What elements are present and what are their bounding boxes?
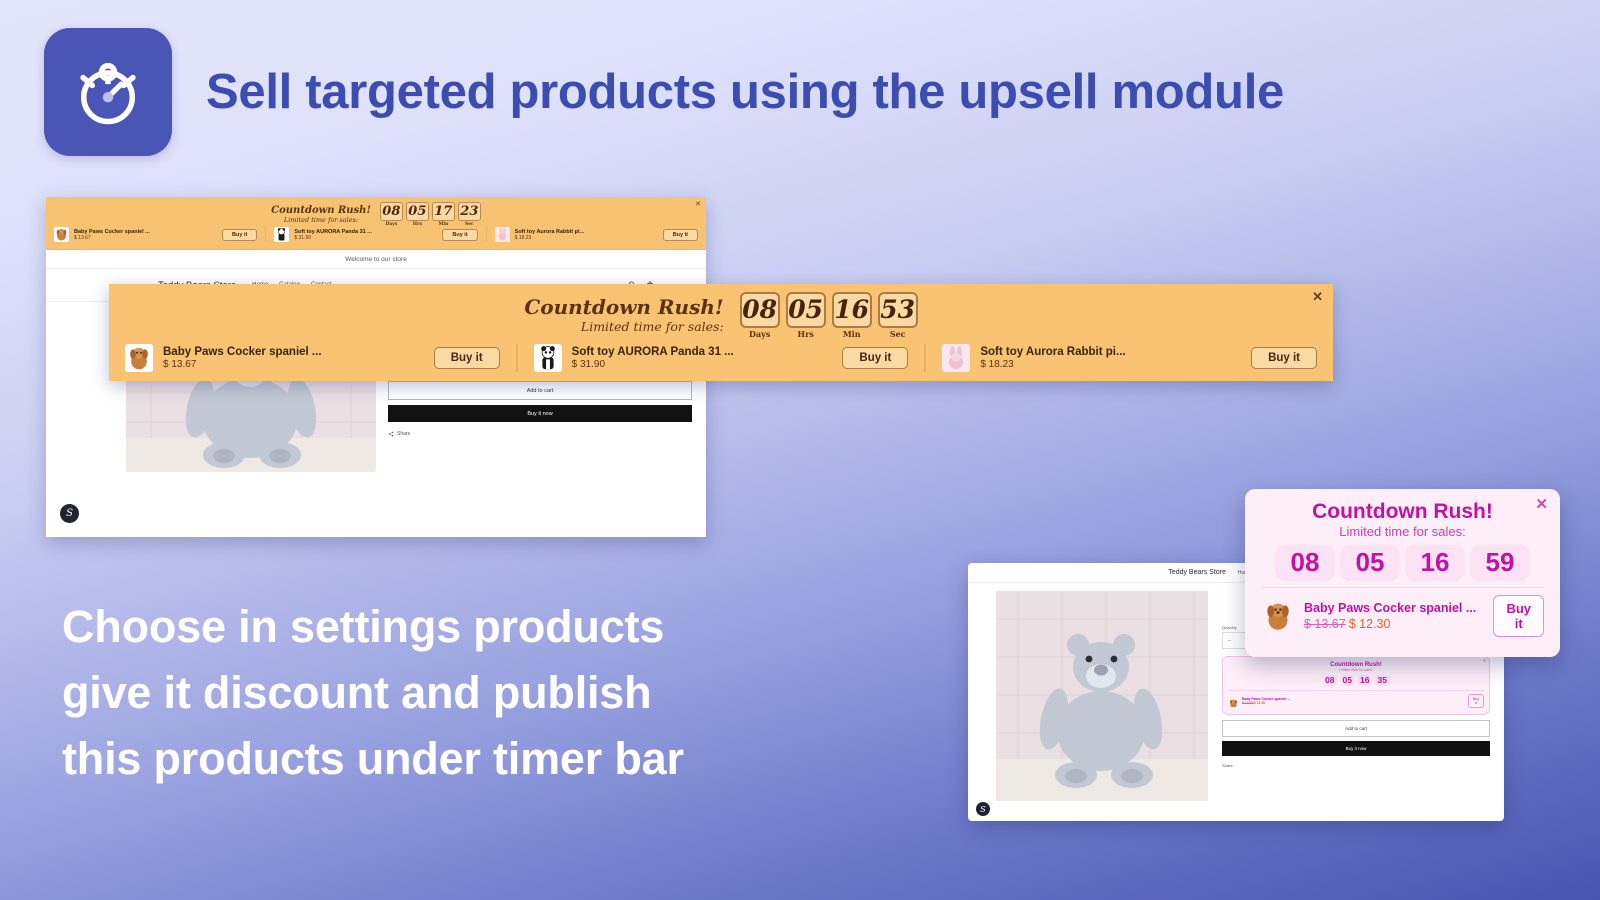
page-title: Sell targeted products using the upsell … — [206, 64, 1284, 120]
buy-it-now-button[interactable]: Buy it now — [388, 405, 692, 422]
rabbit-plush-thumb — [495, 227, 510, 242]
buy-it-button[interactable]: Buy it — [1468, 694, 1484, 708]
countdown-minutes: 16 — [1406, 545, 1464, 579]
popup-countdown: 08 05 16 59 — [1261, 545, 1544, 579]
product-price: $ 31.90 — [294, 235, 437, 241]
mini-countdown-title: Countdown Rush! — [271, 205, 371, 216]
mini-countdown-subtitle: Limited time for sales: — [271, 216, 371, 225]
header: Sell targeted products using the upsell … — [44, 28, 1284, 156]
shopify-bag-icon[interactable]: S — [60, 504, 79, 523]
product-price: $ 13.67 — [74, 235, 217, 241]
mini-countdown-hours: 05 Hrs — [406, 202, 429, 227]
inline-countdown-popup: ✕ Countdown Rush! Limited time for sales… — [1222, 656, 1490, 715]
countdown-hours: 05 Hrs — [786, 292, 826, 339]
store-brand[interactable]: Teddy Bears Store — [1168, 569, 1226, 576]
old-price: $ 13.67 — [1304, 617, 1346, 631]
countdown-group: Countdown Rush! Limited time for sales: … — [109, 284, 1333, 339]
announcement-bar: Welcome to our store — [46, 250, 706, 269]
share-link[interactable]: Share — [388, 431, 692, 437]
buy-it-button[interactable]: Buy it — [442, 229, 477, 241]
product-price: $ 13.67 — [163, 359, 424, 370]
quantity-decrement[interactable]: − — [1228, 638, 1231, 644]
countdown-title: Countdown Rush! — [524, 296, 723, 319]
popup-countdown: 08 05 16 35 — [1228, 675, 1484, 686]
product-name: Soft toy Aurora Rabbit pi... — [980, 346, 1241, 358]
close-icon[interactable]: ✕ — [1535, 495, 1548, 513]
mini-countdown-minutes: 17 Min — [432, 202, 455, 227]
mini-countdown-days: 08 Days — [380, 202, 403, 227]
table-row[interactable]: Soft toy AURORA Panda 31 ... $ 31.90 Buy… — [516, 344, 925, 372]
countdown-days: 08 — [1323, 675, 1336, 686]
table-row[interactable]: Baby Paws Cocker spaniel ... $ 13.67 Buy… — [109, 344, 516, 372]
countdown-hours: 05 — [1341, 675, 1354, 686]
close-icon[interactable]: ✕ — [1483, 658, 1486, 663]
dog-plush-thumb — [54, 227, 69, 242]
countdown-popup-callout: ✕ Countdown Rush! Limited time for sales… — [1245, 489, 1560, 657]
buy-it-button[interactable]: Buy it — [842, 347, 908, 369]
table-row[interactable]: Soft toy Aurora Rabbit pi... $ 18.23 Buy… — [924, 344, 1333, 372]
new-price: $ 12.30 — [1254, 701, 1266, 705]
timer-bar-callout: ✕ Countdown Rush! Limited time for sales… — [109, 284, 1333, 381]
mini-timer-bar: ✕ Countdown Rush! Limited time for sales… — [46, 197, 706, 250]
product-price: $ 18.23 — [515, 235, 658, 241]
close-icon[interactable]: ✕ — [1312, 289, 1323, 305]
countdown-minutes: 16 — [1358, 675, 1371, 686]
list-item[interactable]: Soft toy Aurora Rabbit pi... $ 18.23 Buy… — [486, 227, 706, 242]
upsell-products: Baby Paws Cocker spaniel ... $ 13.67 Buy… — [109, 344, 1333, 372]
tagline: Choose in settings products give it disc… — [62, 594, 684, 792]
product-name: Soft toy AURORA Panda 31 ... — [572, 346, 833, 358]
teddy-bear-product-image — [996, 591, 1208, 801]
product-name: Baby Paws Cocker spaniel ... — [1304, 601, 1484, 615]
list-item[interactable]: Baby Paws Cocker spaniel ... $ 13.67 Buy… — [46, 227, 265, 242]
dog-plush-thumb — [1261, 599, 1295, 633]
popup-subtitle: Limited time for sales: — [1228, 668, 1484, 672]
tagline-line-2: give it discount and publish — [62, 660, 684, 726]
product-name: Baby Paws Cocker spaniel ... — [163, 346, 424, 358]
countdown-seconds: 35 — [1375, 675, 1388, 686]
new-price: $ 12.30 — [1349, 617, 1391, 631]
buy-it-button[interactable]: Buy it — [222, 229, 257, 241]
panda-plush-thumb — [534, 344, 562, 372]
countdown-hours: 05 — [1341, 545, 1399, 579]
add-to-cart-button[interactable]: Add to cart — [1222, 720, 1490, 737]
mini-countdown-seconds: 23 Sec — [458, 202, 481, 227]
countdown-subtitle: Limited time for sales: — [524, 319, 723, 335]
buy-it-now-button[interactable]: Buy it now — [1222, 741, 1490, 756]
countdown-seconds: 59 — [1471, 545, 1529, 579]
buy-it-button[interactable]: Buy it — [1493, 595, 1544, 637]
dog-plush-thumb — [125, 344, 153, 372]
buy-it-button[interactable]: Buy it — [1251, 347, 1317, 369]
rabbit-plush-thumb — [942, 344, 970, 372]
mini-upsell-products: Baby Paws Cocker spaniel ... $ 13.67 Buy… — [46, 227, 706, 242]
countdown-seconds: 53 Sec — [878, 292, 918, 339]
popup-subtitle: Limited time for sales: — [1261, 524, 1544, 539]
shopify-bag-icon[interactable]: S — [976, 802, 990, 816]
popup-product-row[interactable]: Baby Paws Cocker spaniel ... $ 13.67$ 12… — [1228, 690, 1484, 708]
countdown-days: 08 — [1276, 545, 1334, 579]
mini-countdown: Countdown Rush! Limited time for sales: … — [46, 202, 706, 227]
popup-title: Countdown Rush! — [1261, 499, 1544, 524]
share-link[interactable]: Share — [1222, 763, 1490, 768]
buy-it-button[interactable]: Buy it — [663, 229, 698, 241]
tagline-line-1: Choose in settings products — [62, 594, 684, 660]
tagline-line-3: this products under timer bar — [62, 726, 684, 792]
product-price: $ 18.23 — [980, 359, 1241, 370]
countdown-minutes: 16 Min — [832, 292, 872, 339]
product-price: $ 31.90 — [572, 359, 833, 370]
list-item[interactable]: Soft toy AURORA Panda 31 ... $ 31.90 Buy… — [265, 227, 485, 242]
add-to-cart-button[interactable]: Add to cart — [388, 381, 692, 400]
panda-plush-thumb — [274, 227, 289, 242]
slide-canvas: Sell targeted products using the upsell … — [0, 0, 1600, 900]
product-price: $ 13.67$ 12.30 — [1242, 701, 1465, 705]
old-price: $ 13.67 — [1242, 701, 1254, 705]
buy-it-button[interactable]: Buy it — [434, 347, 500, 369]
countdown-days: 08 Days — [740, 292, 780, 339]
product-price: $ 13.67$ 12.30 — [1304, 617, 1484, 631]
stopwatch-timer-icon — [44, 28, 172, 156]
popup-product-row[interactable]: Baby Paws Cocker spaniel ... $ 13.67$ 12… — [1261, 587, 1544, 637]
dog-plush-thumb — [1228, 696, 1239, 707]
